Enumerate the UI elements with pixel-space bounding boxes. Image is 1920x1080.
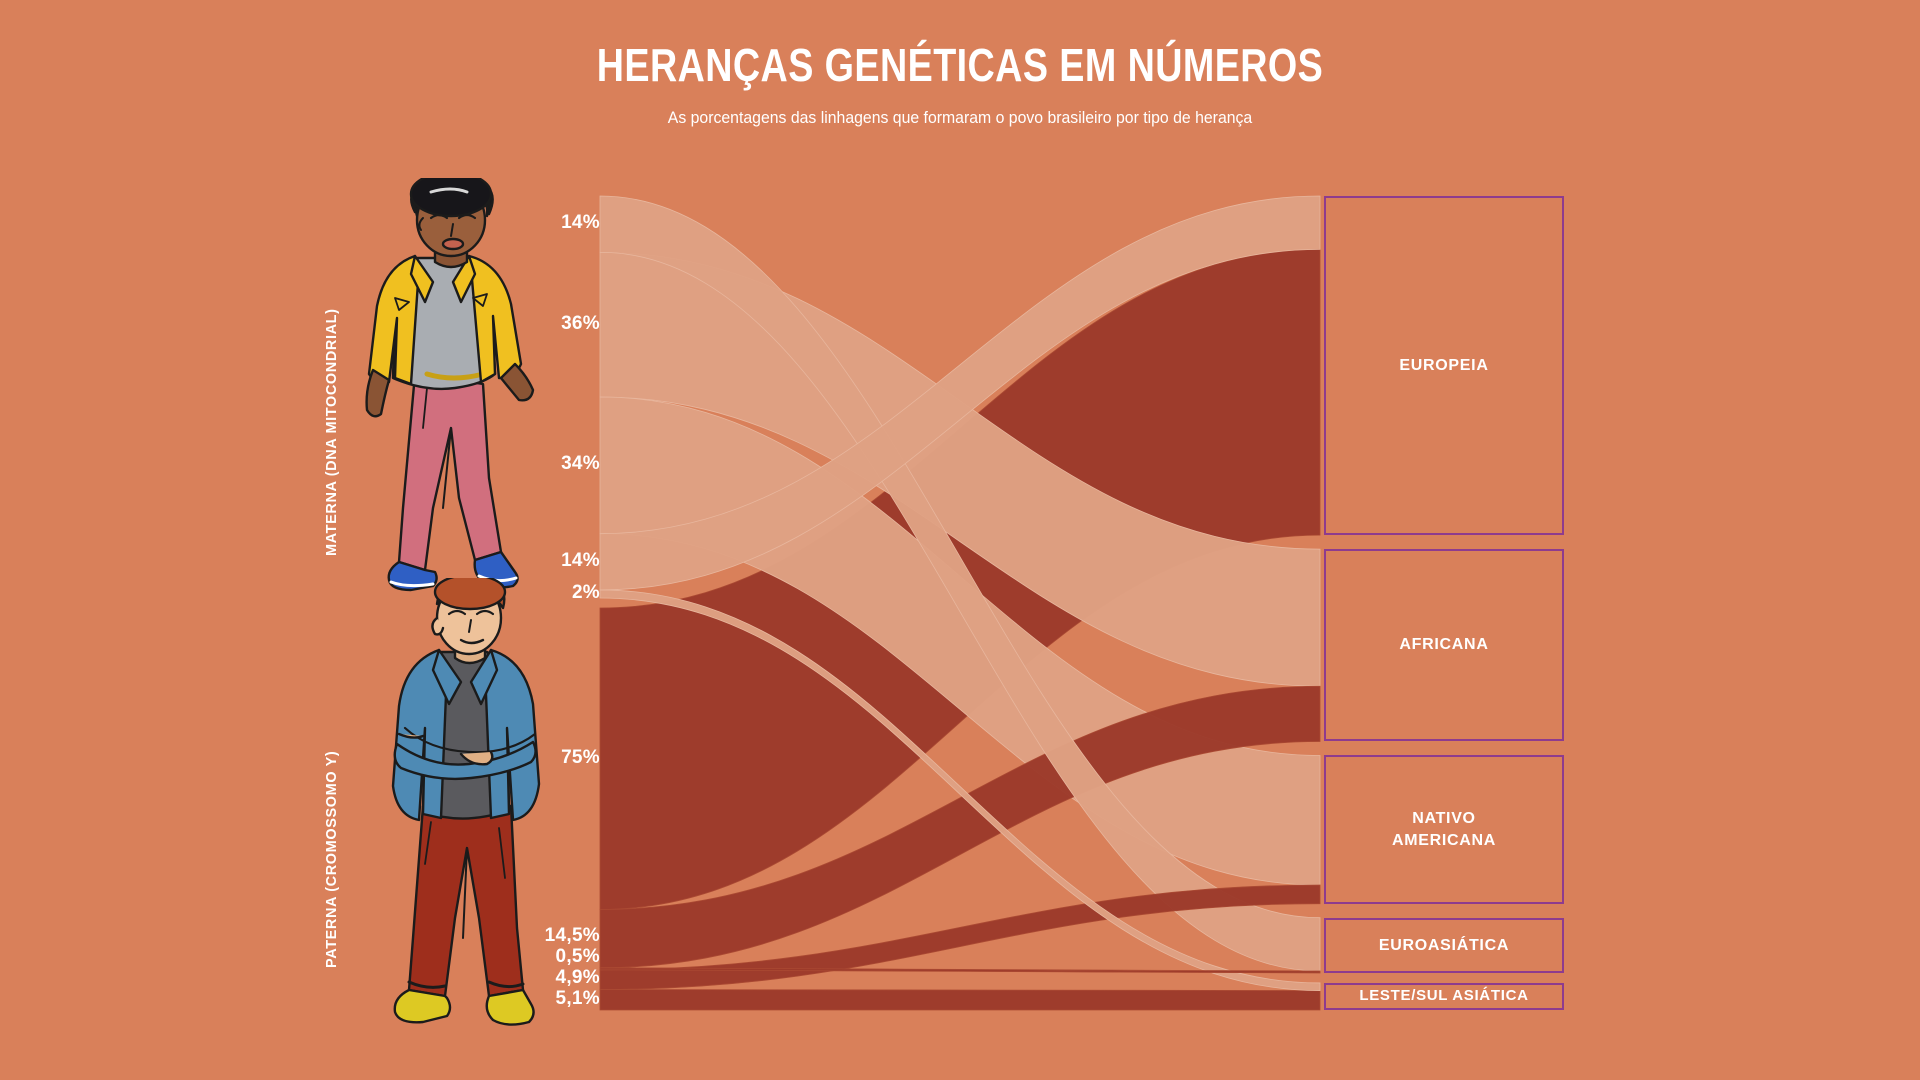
category-node-euroasiatica[interactable]: EUROASIÁTICA [1324, 918, 1564, 973]
tick-label: 5,1% [555, 988, 600, 1010]
category-node-label: AFRICANA [1399, 634, 1488, 656]
axis-label-paternal: PATERNA (CROMOSSOMO Y) [324, 751, 340, 968]
category-node-label: LESTE/SUL ASIÁTICA [1359, 986, 1528, 1006]
tick-label: 4,9% [555, 967, 600, 989]
tick-label: 36% [561, 313, 600, 335]
category-node-nativo[interactable]: NATIVO AMERICANA [1324, 755, 1564, 903]
tick-label: 14% [561, 550, 600, 572]
tick-label: 14,5% [545, 925, 600, 947]
category-node-leste_sul[interactable]: LESTE/SUL ASIÁTICA [1324, 983, 1564, 1010]
category-node-label: EUROPEIA [1399, 355, 1488, 377]
tick-label: 0,5% [555, 946, 600, 968]
tick-label: 75% [561, 747, 600, 769]
axis-label-maternal: MATERNA (DNA MITOCONDRIAL) [324, 308, 340, 556]
category-node-europeia[interactable]: EUROPEIA [1324, 196, 1564, 535]
tick-label: 34% [561, 453, 600, 475]
sankey-link-paternal-leste_sul [600, 989, 1320, 1010]
tick-label-column: 14%36%34%14%2%75%14,5%0,5%4,9%5,1% [430, 0, 600, 1080]
tick-label: 2% [572, 582, 600, 604]
sankey-flows [600, 196, 1320, 1010]
category-node-africana[interactable]: AFRICANA [1324, 549, 1564, 741]
tick-label: 14% [561, 212, 600, 234]
category-node-label: NATIVO AMERICANA [1392, 808, 1496, 851]
sankey-diagram [0, 0, 1920, 1080]
category-node-label: EUROASIÁTICA [1379, 935, 1509, 957]
